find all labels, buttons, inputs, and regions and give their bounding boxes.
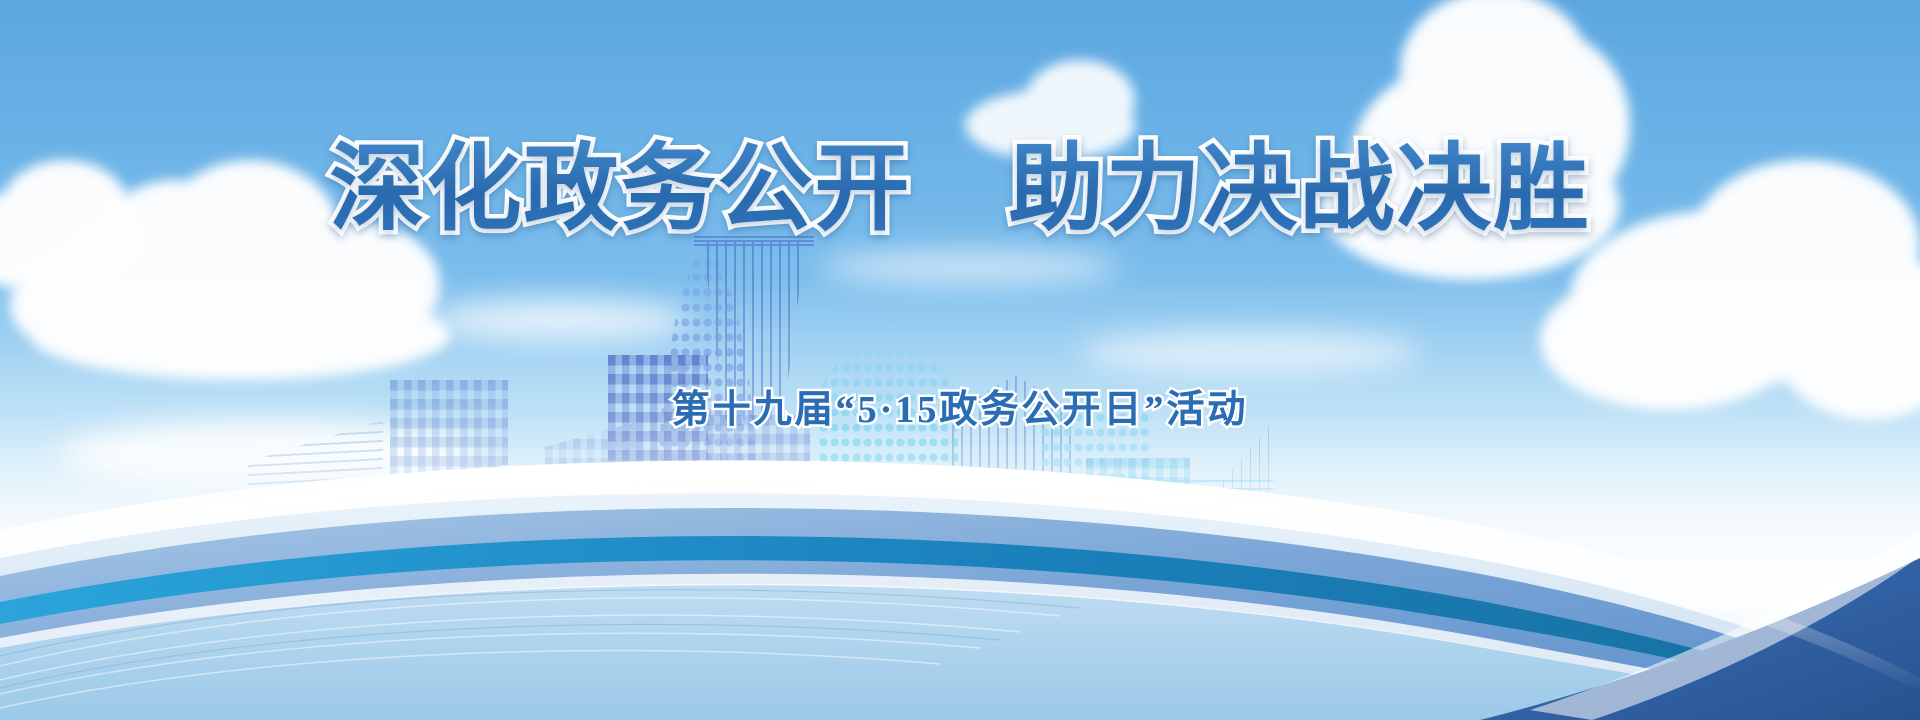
title-block: 深化政务公开 助力决战决胜 深化政务公开 助力决战决胜 [0,138,1920,241]
page-title: 深化政务公开 助力决战决胜 [329,138,1590,241]
subtitle-block: 第十九届“5·15政务公开日”活动 第十九届“5·15政务公开日”活动 [0,378,1920,433]
poster-banner: 深化政务公开 助力决战决胜 深化政务公开 助力决战决胜 第十九届“5·15政务公… [0,0,1920,720]
page-subtitle: 第十九届“5·15政务公开日”活动 [672,378,1249,433]
